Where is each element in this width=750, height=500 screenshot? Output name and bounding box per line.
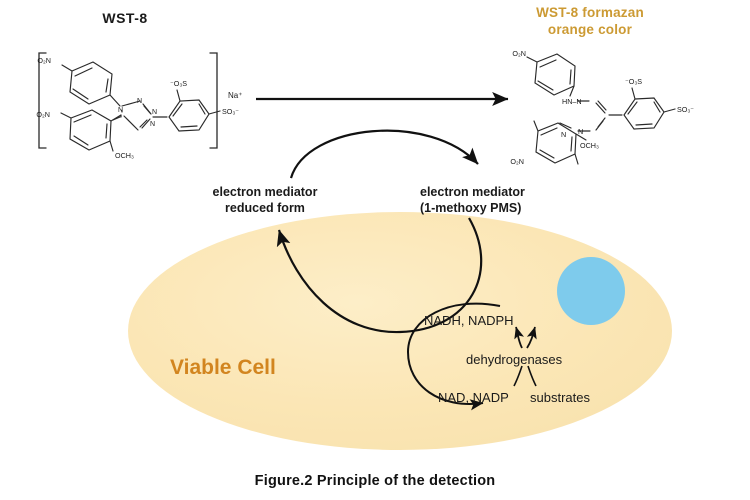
nucleus-icon — [557, 257, 625, 325]
wst8-atom-labels: O₂N O₂N OCH₃ ⁻O₃S SO₃⁻ N N N N — [36, 56, 239, 160]
wst8-structure — [39, 53, 220, 151]
svg-text:O₂N: O₂N — [512, 49, 526, 58]
mediator-oxidized-line1: electron mediator — [420, 185, 580, 201]
mediator-oxidation-arc — [291, 131, 478, 178]
formazan-title: WST-8 formazan orange color — [495, 5, 685, 39]
svg-text:OCH₃: OCH₃ — [580, 141, 599, 150]
nadh-nadph-label: NADH, NADPH — [424, 313, 514, 329]
wst8-title: WST-8 — [0, 10, 250, 28]
svg-text:N: N — [152, 109, 157, 116]
svg-text:SO₃⁻: SO₃⁻ — [677, 105, 694, 114]
svg-text:SO₃⁻: SO₃⁻ — [222, 107, 239, 116]
svg-text:HN–N: HN–N — [562, 97, 582, 106]
svg-text:O₂N: O₂N — [37, 56, 51, 65]
svg-text:N: N — [150, 121, 155, 128]
formazan-structure — [527, 54, 675, 164]
mediator-reduced-label: electron mediator reduced form — [195, 185, 335, 216]
mediator-oxidized-label: electron mediator (1-methoxy PMS) — [420, 185, 580, 216]
svg-text:N: N — [578, 127, 583, 136]
formazan-atom-labels: O₂N O₂N OCH₃ ⁻O₃S SO₃⁻ HN–N N N — [510, 49, 694, 166]
substrates-label: substrates — [530, 390, 590, 406]
svg-text:⁻O₃S: ⁻O₃S — [170, 79, 187, 88]
sodium-counter-ion: Na⁺ — [228, 91, 242, 100]
viable-cell-label: Viable Cell — [170, 355, 276, 381]
formazan-title-line2: orange color — [495, 22, 685, 39]
svg-text:⁻O₃S: ⁻O₃S — [625, 77, 642, 86]
dehydrogenases-label: dehydrogenases — [466, 352, 562, 368]
diagram-canvas: O₂N O₂N OCH₃ ⁻O₃S SO₃⁻ N N N N Na⁺ — [0, 0, 750, 500]
svg-text:O₂N: O₂N — [510, 157, 524, 166]
mediator-reduced-line1: electron mediator — [195, 185, 335, 201]
mediator-reduced-line2: reduced form — [195, 201, 335, 217]
nad-nadp-label: NAD, NADP — [438, 390, 509, 406]
svg-text:N: N — [137, 98, 142, 105]
mediator-oxidized-line2: (1-methoxy PMS) — [420, 201, 580, 217]
svg-text:N: N — [561, 130, 566, 139]
svg-text:O₂N: O₂N — [36, 110, 50, 119]
figure-root: O₂N O₂N OCH₃ ⁻O₃S SO₃⁻ N N N N Na⁺ — [0, 0, 750, 500]
figure-caption: Figure.2 Principle of the detection — [0, 472, 750, 490]
formazan-title-line1: WST-8 formazan — [536, 5, 644, 20]
svg-text:N: N — [118, 107, 123, 114]
svg-text:OCH₃: OCH₃ — [115, 151, 134, 160]
